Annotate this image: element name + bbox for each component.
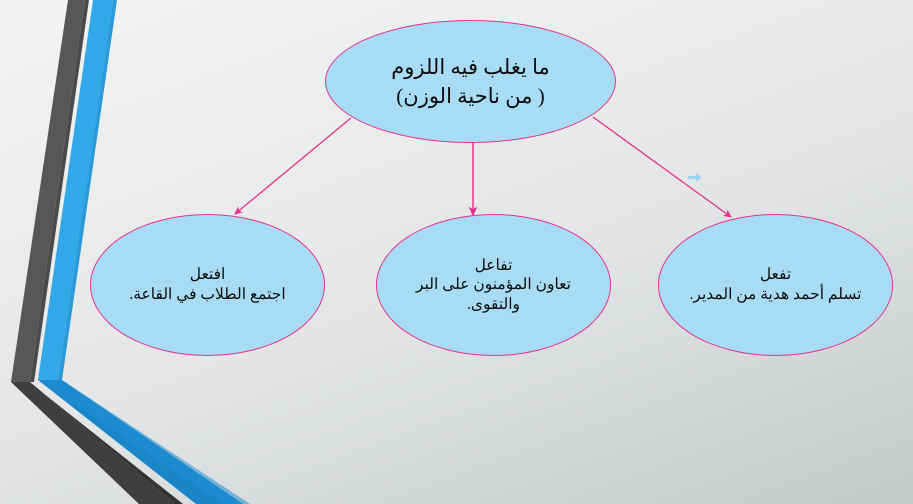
- node-middle-example: تعاون المؤمنون على البر والتقوى.: [391, 275, 596, 314]
- node-right-example: تسلم أحمد هدية من المدير.: [690, 285, 862, 305]
- deco-blue-diagonal-band: [38, 380, 243, 504]
- deco-blue-diagonal-band-top: [38, 380, 250, 504]
- connector-root-to-left: [235, 118, 351, 214]
- deco-blue-vertical-band: [38, 0, 113, 380]
- node-middle-ellipse[interactable]: تفاعل تعاون المؤمنون على البر والتقوى.: [376, 214, 611, 356]
- node-right-pattern: تفعل: [760, 265, 791, 285]
- node-left-example: اجتمع الطلاب في القاعة.: [129, 285, 285, 305]
- node-left-pattern: افتعل: [190, 265, 226, 285]
- deco-dark-diagonal-band: [11, 382, 175, 504]
- deco-dark-vertical-band: [11, 0, 85, 382]
- node-middle-pattern: تفاعل: [475, 256, 513, 276]
- node-right-ellipse[interactable]: تفعل تسلم أحمد هدية من المدير.: [658, 214, 893, 356]
- deco-dark-vertical-band-shade: [30, 0, 89, 382]
- small-blue-arrow-icon: [688, 172, 702, 183]
- node-left-ellipse[interactable]: افتعل اجتمع الطلاب في القاعة.: [90, 214, 325, 356]
- node-root-line1: ما يغلب فيه اللزوم: [391, 53, 550, 82]
- node-root-line2: ( من ناحية الوزن): [396, 82, 544, 111]
- node-root-ellipse[interactable]: ما يغلب فيه اللزوم ( من ناحية الوزن): [325, 20, 616, 143]
- deco-dark-diagonal-band-shade: [30, 382, 183, 504]
- slide-canvas: ما يغلب فيه اللزوم ( من ناحية الوزن) افت…: [0, 0, 913, 504]
- connector-root-to-right: [593, 117, 731, 217]
